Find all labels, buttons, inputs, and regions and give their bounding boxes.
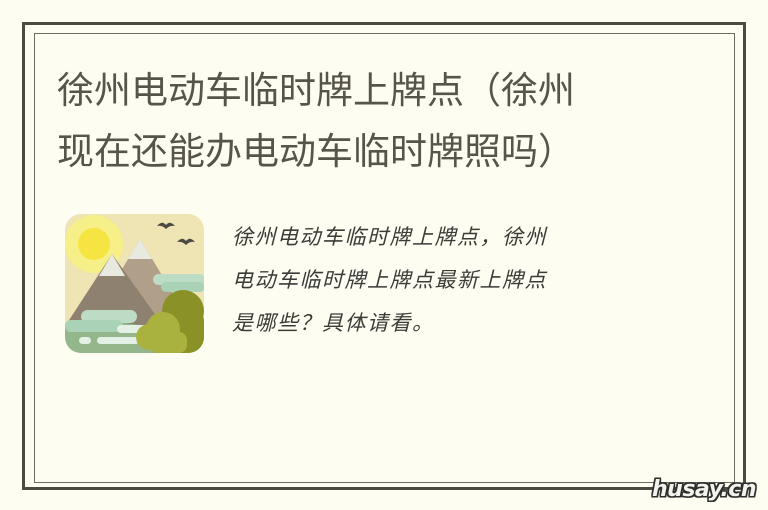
article-summary: 徐州电动车临时牌上牌点，徐州 电动车临时牌上牌点最新上牌点 是哪些？具体请看。: [232, 216, 652, 345]
page-title: 徐州电动车临时牌上牌点（徐州 现在还能办电动车临时牌照吗）: [57, 60, 657, 182]
site-watermark: husay.cn: [652, 477, 756, 502]
article-card: 徐州电动车临时牌上牌点（徐州 现在还能办电动车临时牌照吗）: [0, 0, 768, 510]
landscape-illustration-icon: [57, 206, 212, 361]
